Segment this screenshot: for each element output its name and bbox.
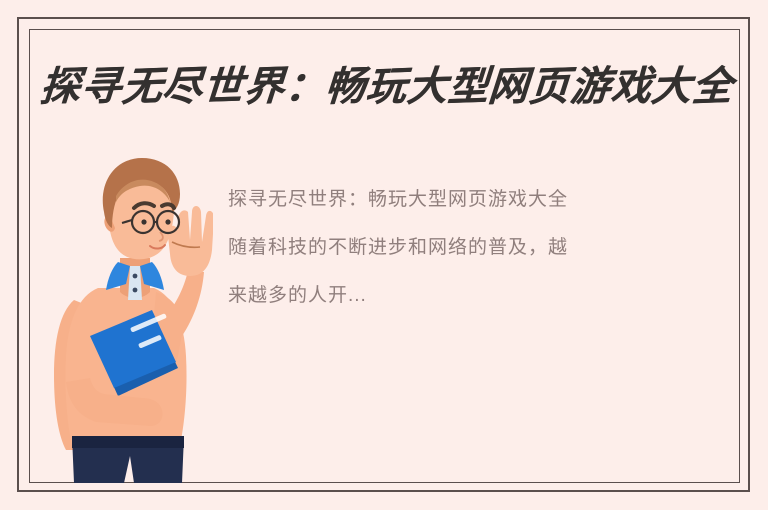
excerpt-line: 随着科技的不断进步和网络的普及，越 bbox=[228, 224, 728, 272]
title-char: 大 bbox=[650, 66, 693, 107]
shirt-button-1 bbox=[133, 274, 138, 279]
title-char: 无 bbox=[120, 66, 163, 107]
title-char: ： bbox=[283, 66, 326, 107]
article-card: 探 寻 无 尽 世 界 ： 畅 玩 大 型 网 页 游 戏 大 全 bbox=[0, 0, 768, 510]
title-char: 玩 bbox=[365, 66, 408, 107]
title-char: 界 bbox=[242, 66, 285, 107]
character-illustration bbox=[38, 150, 213, 483]
title-char: 全 bbox=[691, 66, 734, 107]
waving-hand bbox=[168, 206, 213, 276]
title-char: 网 bbox=[487, 66, 530, 107]
title-char: 探 bbox=[39, 66, 82, 107]
shirt-button-2 bbox=[133, 288, 138, 293]
title-char: 世 bbox=[202, 66, 245, 107]
eye-left bbox=[141, 219, 146, 224]
article-excerpt: 探寻无尽世界：畅玩大型网页游戏大全 随着科技的不断进步和网络的普及，越 来越多的… bbox=[228, 176, 728, 320]
excerpt-line: 探寻无尽世界：畅玩大型网页游戏大全 bbox=[228, 176, 728, 224]
title-char: 畅 bbox=[324, 66, 367, 107]
eye-right bbox=[165, 219, 170, 224]
title-char: 页 bbox=[528, 66, 571, 107]
title-char: 戏 bbox=[609, 66, 652, 107]
page-title: 探 寻 无 尽 世 界 ： 畅 玩 大 型 网 页 游 戏 大 全 bbox=[40, 58, 732, 116]
waistband bbox=[72, 436, 184, 448]
title-char: 尽 bbox=[161, 66, 204, 107]
title-char: 大 bbox=[405, 66, 448, 107]
title-char: 寻 bbox=[79, 66, 122, 107]
shirt-placket bbox=[128, 266, 142, 300]
excerpt-line: 来越多的人开... bbox=[228, 272, 728, 320]
title-char: 游 bbox=[568, 66, 611, 107]
title-char: 型 bbox=[446, 66, 489, 107]
